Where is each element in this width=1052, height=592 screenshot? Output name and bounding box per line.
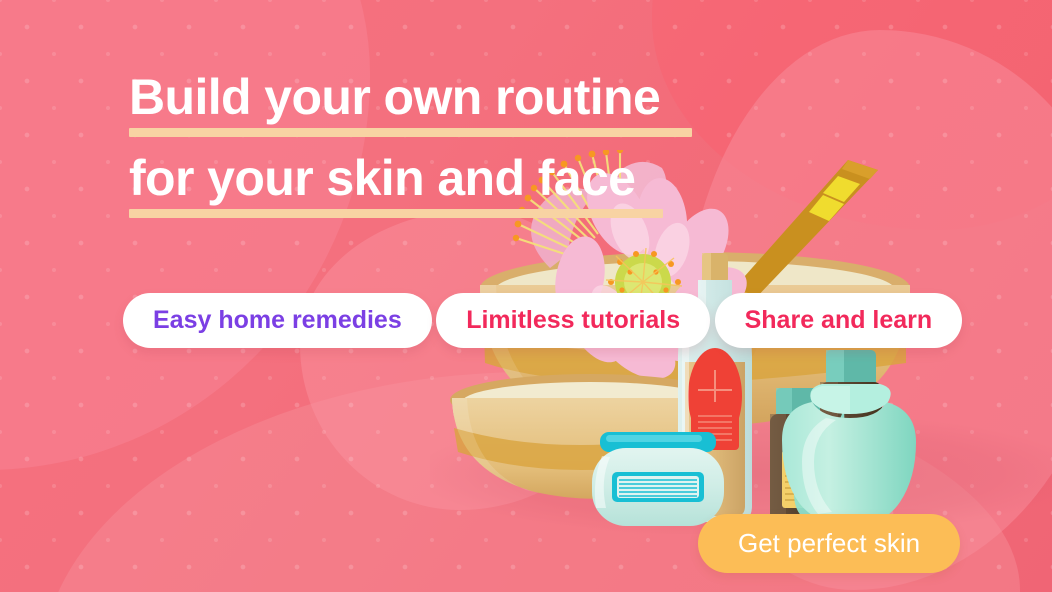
mint-pitcher <box>782 384 916 527</box>
feature-pill-share-and-learn[interactable]: Share and learn <box>715 293 963 348</box>
headline-line-1: Build your own routine <box>129 72 692 122</box>
headline-underline-1 <box>129 128 692 137</box>
headline-line-2: for your skin and face <box>129 153 692 203</box>
skincare-promo-banner: Build your own routine for your skin and… <box>0 0 1052 592</box>
get-perfect-skin-button[interactable]: Get perfect skin <box>698 514 960 573</box>
feature-pill-easy-home-remedies[interactable]: Easy home remedies <box>123 293 432 348</box>
headline-underline-2 <box>129 209 663 218</box>
feature-pill-limitless-tutorials[interactable]: Limitless tutorials <box>436 293 710 348</box>
headline-block: Build your own routine for your skin and… <box>129 72 692 218</box>
mint-cream-jar <box>592 432 724 526</box>
feature-pill-list: Easy home remedies Limitless tutorials S… <box>123 293 962 369</box>
